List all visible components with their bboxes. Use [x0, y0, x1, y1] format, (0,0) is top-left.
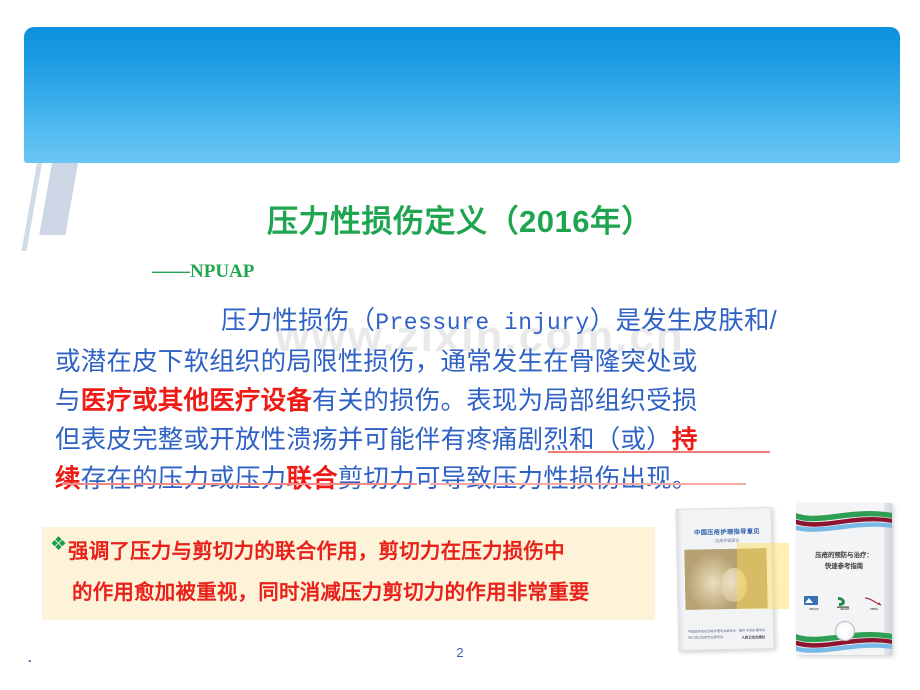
page-title: 压力性损伤定义（2016年） — [0, 196, 920, 241]
definition-segment: 但表皮完整或开放性溃疡并可能伴有疼痛剧烈和（或） — [55, 426, 672, 454]
definition-segment: 联合 — [286, 465, 337, 493]
slide-canvas: 压力性损伤定义（2016年） ——NPUAP www.zixin.com.cn … — [0, 0, 920, 690]
source-attribution: ——NPUAP — [152, 261, 254, 283]
definition-text: 压力性损伤（Pressure injury）是发生皮肤和/或潜在皮下软组织的局限… — [55, 302, 880, 499]
epuap-logo-icon: EPUAP — [835, 595, 855, 613]
diamond-bullet-icon: ❖ — [50, 535, 67, 554]
epuap-logo-caption: EPUAP — [835, 608, 855, 611]
definition-underline-upper — [548, 451, 770, 453]
definition-line: 续存在的压力或压力联合剪切力可导致压力性损伤出现。 — [55, 460, 880, 499]
page-number-value: 2 — [456, 645, 463, 660]
definition-line: 与医疗或其他医疗设备有关的损伤。表现为局部组织受损 — [55, 382, 880, 421]
npuap-logo-caption: NPUAP — [804, 608, 824, 611]
definition-underline-left — [62, 483, 417, 485]
publisher-seal-icon — [835, 621, 855, 641]
definition-segment: 存在的压力或压力 — [81, 465, 287, 493]
definition-segment: 与 — [55, 387, 81, 415]
callout-line-2: 的作用愈加被重视，同时消减压力剪切力的作用非常重要 — [72, 575, 685, 605]
definition-segment: ）是发生皮肤和/ — [590, 307, 777, 335]
definition-line: 或潜在皮下软组织的局限性损伤，通常发生在骨隆突处或 — [55, 343, 880, 382]
book-cover-quick-reference-guide: 压疮的预防与治疗： 快速参考指南 NPUAP EPUAP — [796, 503, 892, 655]
book-right-title-line2: 快速参考指南 — [802, 561, 886, 572]
book-cover-images: 中国压疮护理指导意见 压疮护理建议 中国医师协会压疮护理专业委员会 · 编写 中… — [665, 500, 915, 658]
book-left-publisher: 人民卫生出版社 — [741, 634, 765, 639]
book-right-title: 压疮的预防与治疗： 快速参考指南 — [802, 550, 886, 572]
callout-line-1: 强调了压力与剪切力的联合作用，剪切力在压力损伤中 — [68, 534, 681, 564]
book-right-title-line1: 压疮的预防与治疗： — [802, 550, 886, 561]
page-number: 2 — [0, 645, 920, 660]
header-banner — [24, 27, 900, 163]
npuap-logo-icon: NPUAP — [804, 595, 824, 613]
definition-segment: 压力性损伤（ — [221, 307, 375, 335]
definition-underline-right — [430, 483, 746, 485]
highlight-overlay — [737, 543, 789, 609]
ribbon-wave-top-icon — [796, 506, 892, 532]
organisation-logos: NPUAP EPUAP PPPIA — [804, 595, 886, 617]
definition-line: 压力性损伤（Pressure injury）是发生皮肤和/ — [55, 302, 880, 343]
definition-segment: 持 — [672, 426, 698, 454]
definition-line: 但表皮完整或开放性溃疡并可能伴有疼痛剧烈和（或）持 — [55, 421, 880, 460]
definition-segment: Pressure injury — [375, 310, 590, 336]
pppia-logo-icon: PPPIA — [864, 595, 884, 613]
pppia-logo-caption: PPPIA — [864, 608, 884, 611]
key-point-callout: ❖ 强调了压力与剪切力的联合作用，剪切力在压力损伤中 的作用愈加被重视，同时消减… — [42, 527, 655, 620]
definition-segment: 有关的损伤。表现为局部组织受损 — [312, 387, 698, 415]
definition-segment: 医疗或其他医疗设备 — [81, 387, 312, 415]
definition-segment: 或潜在皮下软组织的局限性损伤，通常发生在骨隆突处或 — [55, 348, 698, 376]
book-left-title: 中国压疮护理指导意见 — [685, 526, 769, 537]
definition-segment: 续 — [55, 465, 81, 493]
definition-segment: 剪切力可导致压力性损伤出现。 — [338, 465, 698, 493]
